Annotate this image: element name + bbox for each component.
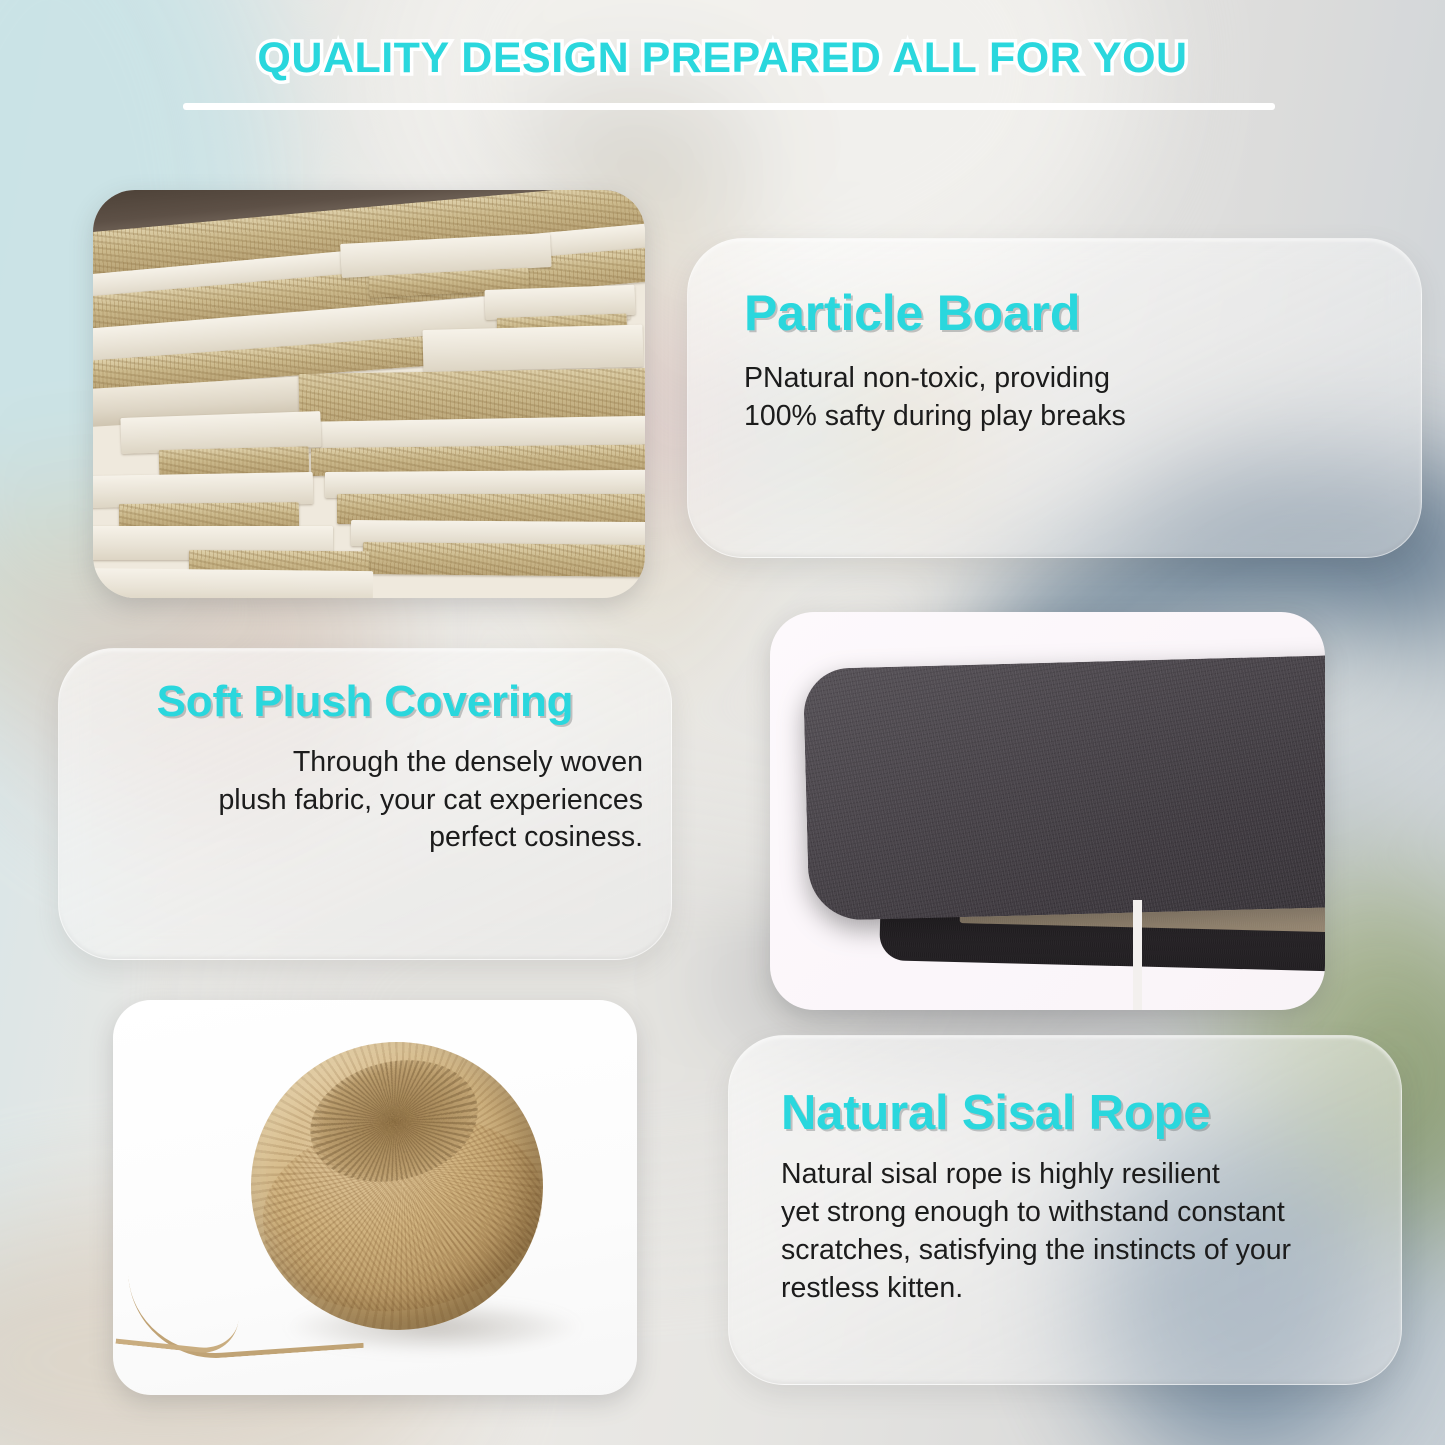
sisal-rope-image — [113, 1000, 637, 1395]
page-title: QUALITY DESIGN PREPARED ALL FOR YOU — [257, 34, 1187, 83]
soft-plush-body-line-1: Through the densely woven — [81, 744, 643, 782]
sisal-rope-body-line-3: scratches, satisfying the instincts of y… — [781, 1232, 1401, 1270]
sisal-rope-body-line-2: yet strong enough to withstand constant — [781, 1194, 1401, 1232]
page-title-wrapper: QUALITY DESIGN PREPARED ALL FOR YOU — [0, 34, 1445, 83]
sisal-rope-heading: Natural Sisal Rope — [781, 1088, 1401, 1140]
particle-board-text-panel: Particle Board PNatural non-toxic, provi… — [687, 238, 1422, 558]
particle-board-heading: Particle Board — [744, 287, 1421, 340]
soft-plush-heading: Soft Plush Covering — [81, 679, 649, 726]
plush-fabric-image — [770, 612, 1325, 1010]
particle-board-body-line-2: 100% safty during play breaks — [744, 398, 1421, 436]
soft-plush-body-line-2: plush fabric, your cat experiences — [81, 782, 643, 820]
sisal-rope-body: Natural sisal rope is highly resilient y… — [781, 1156, 1401, 1308]
sisal-rope-body-line-1: Natural sisal rope is highly resilient — [781, 1156, 1401, 1194]
soft-plush-text-panel: Soft Plush Covering Through the densely … — [58, 648, 672, 960]
particle-board-body-line-1: PNatural non-toxic, providing — [744, 360, 1421, 398]
soft-plush-body: Through the densely woven plush fabric, … — [81, 744, 649, 858]
sisal-rope-body-line-4: restless kitten. — [781, 1270, 1401, 1308]
soft-plush-body-line-3: perfect cosiness. — [81, 819, 643, 857]
title-underline — [183, 103, 1275, 110]
particle-board-body: PNatural non-toxic, providing 100% safty… — [744, 360, 1421, 436]
infographic-canvas: QUALITY DESIGN PREPARED ALL FOR YOU — [0, 0, 1445, 1445]
sisal-rope-text-panel: Natural Sisal Rope Natural sisal rope is… — [728, 1035, 1402, 1385]
particle-board-image — [93, 190, 645, 598]
